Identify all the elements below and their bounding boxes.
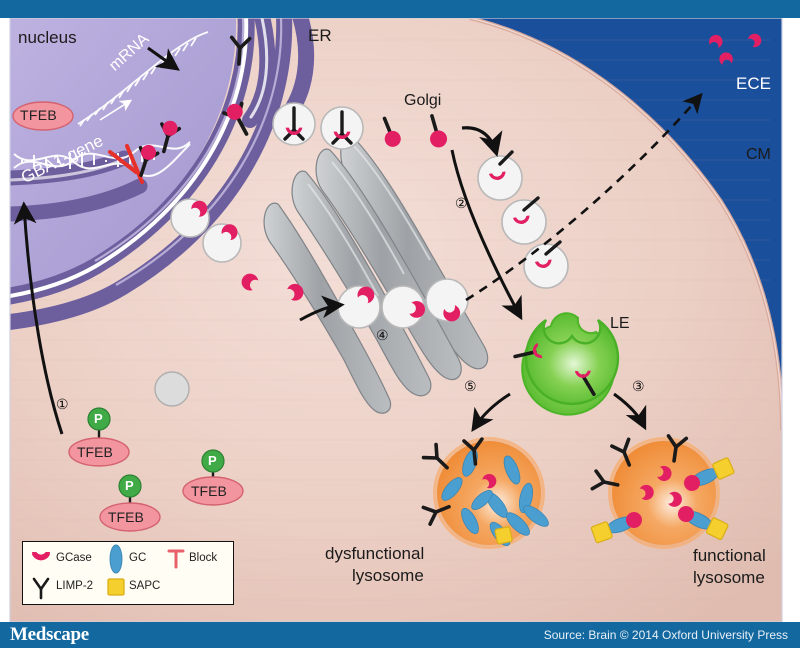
step-number-4: ④	[376, 327, 389, 344]
vesicle-er-1	[273, 103, 315, 145]
label-functional-lysosome-line2: lysosome	[693, 568, 765, 588]
step-number-3: ③	[632, 378, 645, 395]
label-cm: CM	[746, 146, 771, 164]
gcase-icon	[32, 552, 50, 560]
step-number-5: ⑤	[464, 378, 477, 395]
vesicle-er-2	[321, 107, 363, 149]
source-attribution: Source: Brain © 2014 Oxford University P…	[544, 628, 788, 642]
legend-label-gc: GC	[129, 552, 146, 564]
label-dysfunctional-lysosome-line1: dysfunctional	[325, 544, 424, 564]
label-golgi: Golgi	[404, 92, 441, 110]
tfeb-cyto-label-3: TFEB	[191, 483, 227, 499]
tfeb-cyto-phospho-3: P	[208, 453, 217, 468]
medscape-logo: Medscape	[10, 624, 89, 646]
block-icon	[169, 551, 183, 567]
limp2-icon	[34, 579, 48, 598]
vesicle-cyto-1	[171, 197, 211, 237]
legend-label-limp2: LIMP-2	[56, 580, 93, 592]
tfeb-cyto-label-2: TFEB	[108, 509, 144, 525]
label-er: ER	[308, 26, 332, 46]
sapc-icon	[108, 579, 124, 595]
step-number-2: ②	[455, 195, 468, 212]
step-number-1: ①	[56, 396, 69, 413]
top-brand-bar	[0, 0, 800, 18]
legend-label-gcase: GCase	[56, 552, 92, 564]
tfeb-cyto-label-1: TFEB	[77, 444, 113, 460]
label-dysfunctional-lysosome-line2: lysosome	[352, 566, 424, 586]
legend-label-sapc: SAPC	[129, 580, 160, 592]
label-nucleus: nucleus	[18, 28, 77, 48]
label-le: LE	[610, 315, 630, 333]
golgi-budding-vesicle	[155, 372, 189, 406]
label-tfeb-nuclear: TFEB	[20, 107, 57, 123]
diagram-canvas: Medscape Source: Brain © 2014 Oxford Uni…	[0, 0, 800, 648]
legend-box: GCase GC Block LIMP-2 SAPC	[22, 541, 234, 605]
tfeb-cyto-phospho-2: P	[125, 478, 134, 493]
gc-icon	[110, 545, 122, 573]
tfeb-cyto-phospho-1: P	[94, 411, 103, 426]
label-ece: ECE	[736, 74, 771, 94]
legend-label-block: Block	[189, 552, 217, 564]
label-functional-lysosome-line1: functional	[693, 546, 766, 566]
